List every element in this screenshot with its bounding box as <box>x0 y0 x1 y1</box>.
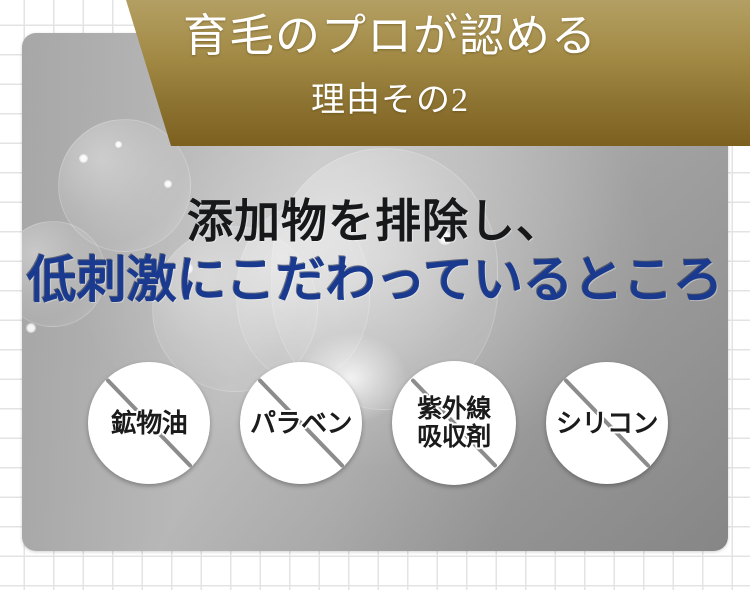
sparkle-dot <box>79 154 88 163</box>
excluded-ingredients-list: 鉱物油 パラベン 紫外線 吸収剤 シリコン <box>88 358 668 488</box>
sparkle-dot <box>115 141 122 148</box>
headline-line-2: 低刺激にこだわっているところ <box>0 252 750 308</box>
badge-label: 鉱物油 <box>111 409 188 437</box>
badge-label: パラベン <box>250 409 352 437</box>
sparkle-dot <box>26 323 36 333</box>
badge-silicone: シリコン <box>546 362 668 484</box>
badge-uv-absorber: 紫外線 吸収剤 <box>392 361 516 485</box>
headline-line-1: 添加物を排除し、 <box>0 196 750 248</box>
banner-title: 育毛のプロが認める <box>0 14 750 59</box>
badge-label: シリコン <box>556 409 658 437</box>
promo-banner: 育毛のプロが認める 理由その2 添加物を排除し、 低刺激にこだわっているところ … <box>0 0 750 590</box>
headline-block: 添加物を排除し、 低刺激にこだわっているところ <box>0 196 750 308</box>
sparkle-dot <box>164 180 172 188</box>
badge-mineral-oil: 鉱物油 <box>88 362 210 484</box>
banner-subtitle: 理由その2 <box>0 84 750 118</box>
badge-label: 紫外線 吸収剤 <box>417 395 491 451</box>
badge-paraben: パラベン <box>240 362 362 484</box>
